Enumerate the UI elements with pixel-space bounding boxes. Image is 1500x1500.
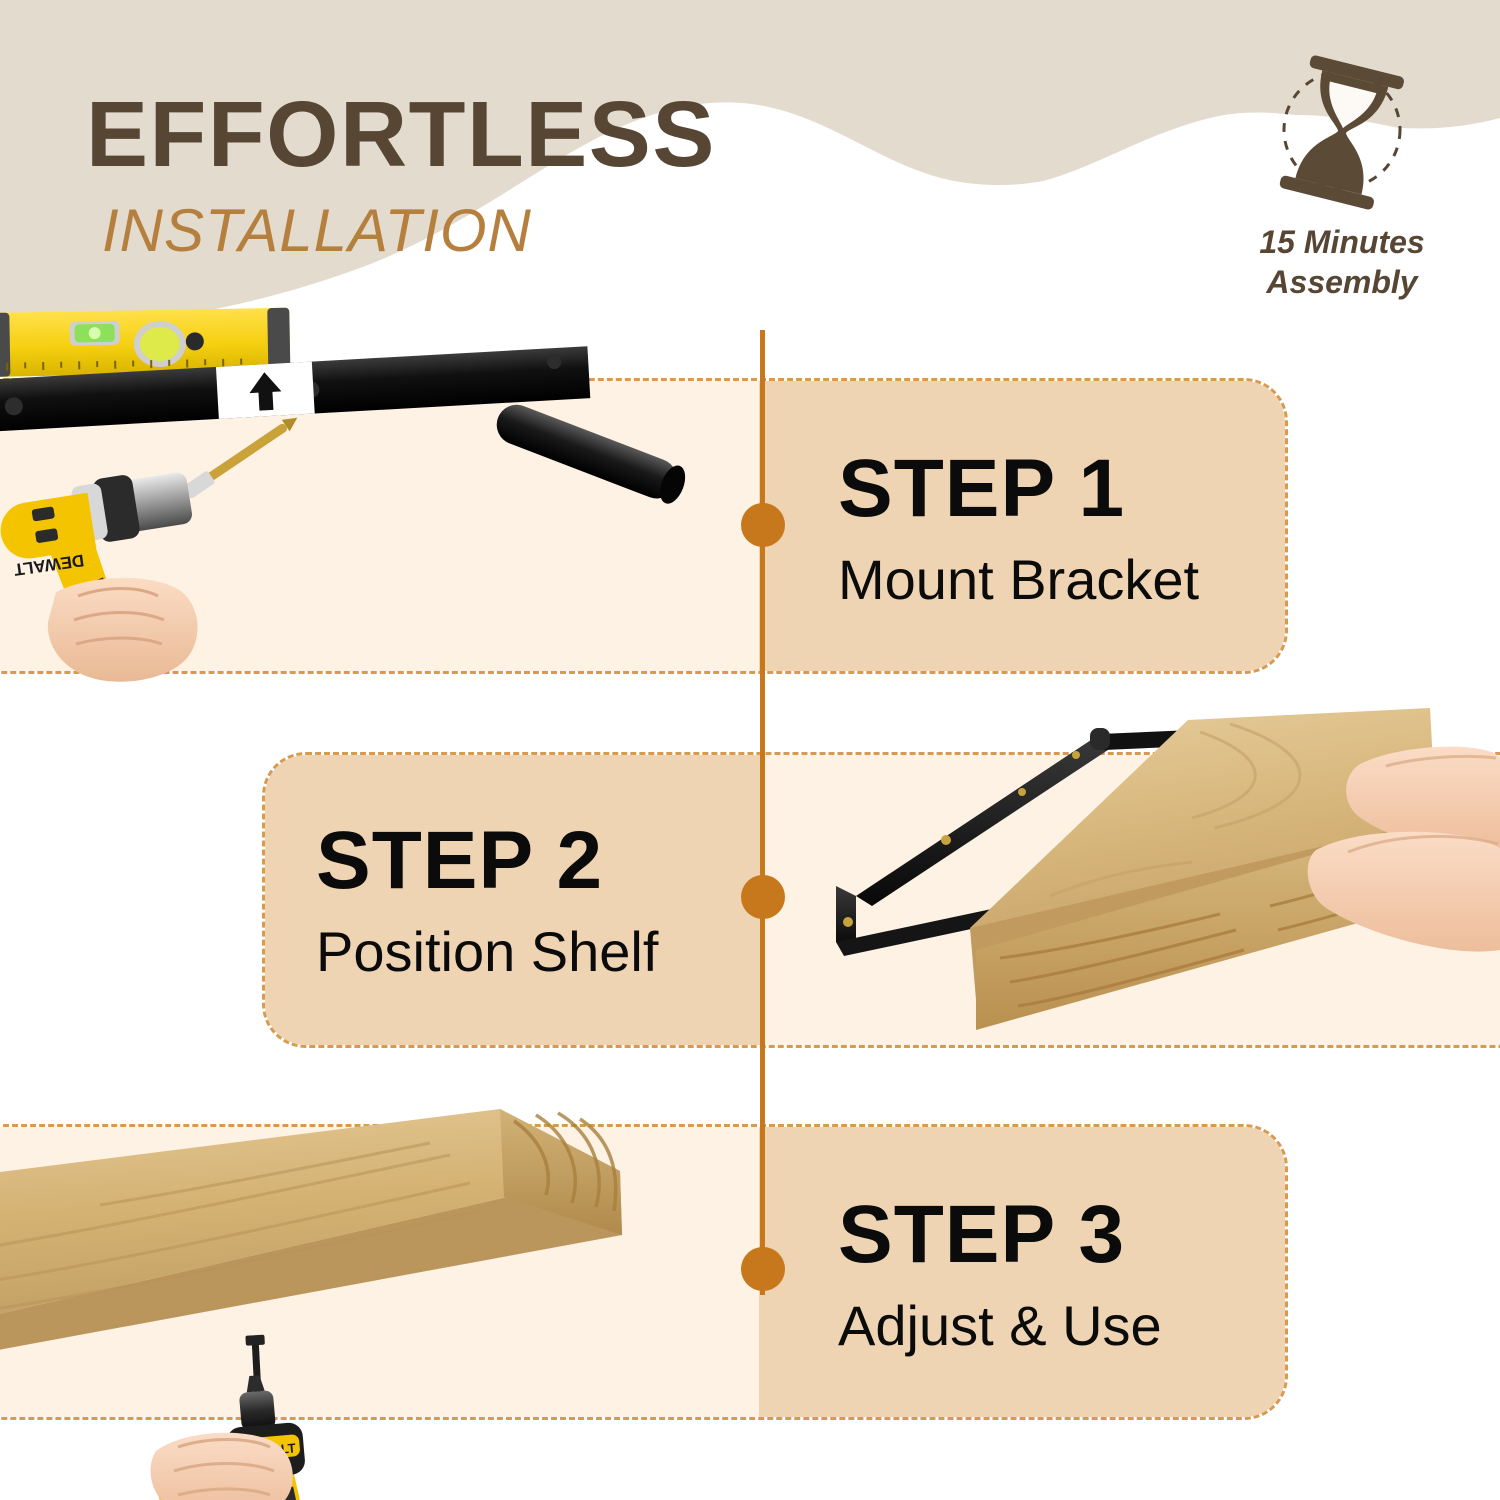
- assembly-time-badge: 15 Minutes Assembly: [1222, 52, 1462, 302]
- timeline-spine: [760, 330, 765, 1295]
- infographic-canvas: EFFORTLESS INSTALLATION 15 Minutes Assem…: [0, 0, 1500, 1500]
- step-3-label: STEP 3 Adjust & Use: [838, 1194, 1162, 1354]
- assembly-time-label: 15 Minutes Assembly: [1222, 222, 1462, 302]
- step-3-photo: DEWALT POWERSTACK: [0, 1085, 780, 1500]
- step-2-photo: [800, 700, 1500, 1100]
- page-subtitle: INSTALLATION: [102, 201, 716, 261]
- hourglass-icon: [1222, 52, 1462, 220]
- timeline-node-3: [741, 1247, 785, 1291]
- step-3-caption: Adjust & Use: [838, 1298, 1162, 1354]
- timeline-node-1: [741, 503, 785, 547]
- step-1-photo: DEWALT: [0, 292, 710, 682]
- page-title-block: EFFORTLESS INSTALLATION: [86, 88, 716, 261]
- step-3-title: STEP 3: [838, 1194, 1162, 1276]
- timeline-node-2: [741, 875, 785, 919]
- step-2-label: STEP 2 Position Shelf: [316, 820, 658, 980]
- step-1-label: STEP 1 Mount Bracket: [838, 448, 1199, 608]
- step-2-caption: Position Shelf: [316, 924, 658, 980]
- step-2-title: STEP 2: [316, 820, 658, 902]
- page-title: EFFORTLESS: [86, 88, 716, 181]
- assembly-time-line1: 15 Minutes: [1222, 222, 1462, 262]
- step-1-caption: Mount Bracket: [838, 552, 1199, 608]
- assembly-time-line2: Assembly: [1222, 262, 1462, 302]
- step-1-title: STEP 1: [838, 448, 1199, 530]
